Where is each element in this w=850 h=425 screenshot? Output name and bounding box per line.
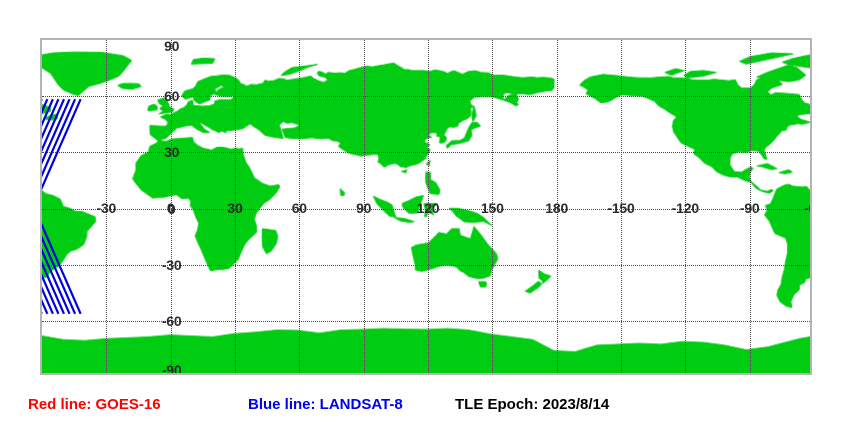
tick-latitude--90: -90 bbox=[162, 362, 182, 375]
tick-longitude-120: 120 bbox=[417, 200, 440, 216]
tick-longitude-150: 150 bbox=[481, 200, 504, 216]
tick-longitude--30: -30 bbox=[96, 200, 116, 216]
tick-longitude--120: -120 bbox=[672, 200, 699, 216]
tick-latitude--60: -60 bbox=[162, 313, 182, 329]
tick-longitude-30: 30 bbox=[227, 200, 242, 216]
tick-latitude-90: 90 bbox=[164, 38, 179, 54]
tick-longitude-60: 60 bbox=[292, 200, 307, 216]
tick-longitude-180: 180 bbox=[545, 200, 568, 216]
legend-red-line-goes16: Red line: GOES-16 bbox=[28, 392, 161, 418]
tick-longitude--150: -150 bbox=[607, 200, 634, 216]
tick-latitude-30: 30 bbox=[164, 144, 179, 160]
world-map[interactable]: -300306090120150180-150-120-90-609060300… bbox=[40, 38, 812, 375]
tick-longitude--90: -90 bbox=[740, 200, 760, 216]
legend-tle-epoch: TLE Epoch: 2023/8/14 bbox=[455, 392, 609, 418]
tick-latitude--30: -30 bbox=[162, 257, 182, 273]
tick-longitude--60: -60 bbox=[804, 200, 812, 216]
tick-longitude-90: 90 bbox=[356, 200, 371, 216]
tick-latitude-60: 60 bbox=[164, 88, 179, 104]
tick-latitude-0: 0 bbox=[168, 201, 176, 217]
map-legend: Red line: GOES-16 Blue line: LANDSAT-8 T… bbox=[0, 392, 850, 418]
legend-blue-line-landsat8: Blue line: LANDSAT-8 bbox=[248, 392, 403, 418]
satellite-ground-track-page: -300306090120150180-150-120-90-609060300… bbox=[0, 0, 850, 425]
